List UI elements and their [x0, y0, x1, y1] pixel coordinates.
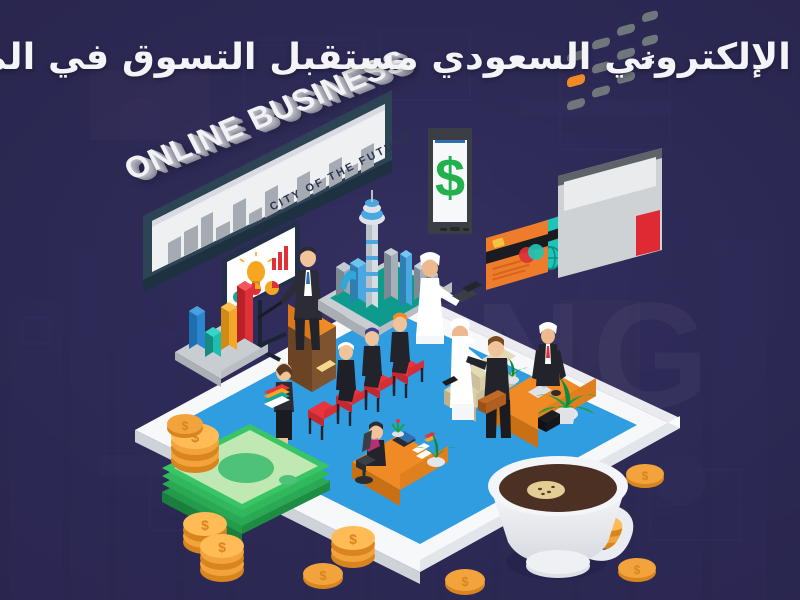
- svg-text:$: $: [634, 563, 641, 577]
- svg-text:$: $: [349, 531, 357, 547]
- svg-text:$: $: [435, 148, 465, 208]
- svg-text:$: $: [461, 574, 469, 589]
- isometric-illustration: $: [0, 0, 800, 600]
- loose-coin-4: $: [618, 558, 656, 582]
- credit-card-orange: [486, 220, 548, 290]
- svg-text:$: $: [319, 568, 327, 583]
- loose-coin-1: $: [303, 563, 343, 589]
- calculator: [558, 10, 662, 278]
- calculator-key-clear: [567, 73, 585, 88]
- loose-coin-5: $: [167, 414, 203, 438]
- banner-canvas: TING متجر الإلكتروني السعودي مستقبل التس…: [0, 0, 800, 600]
- loose-coin-3: $: [626, 464, 664, 488]
- loose-coin-2: $: [445, 569, 485, 595]
- coin-stack-right: $: [331, 526, 375, 568]
- coin-stack-mid: $: [200, 534, 244, 582]
- saudi-man-at-desk: [532, 322, 566, 386]
- smartphone-payment: $: [427, 124, 488, 234]
- svg-text:$: $: [201, 517, 209, 533]
- coffee-cup: [488, 456, 628, 580]
- svg-text:$: $: [182, 419, 189, 433]
- svg-text:$: $: [642, 469, 649, 483]
- svg-text:$: $: [218, 539, 226, 555]
